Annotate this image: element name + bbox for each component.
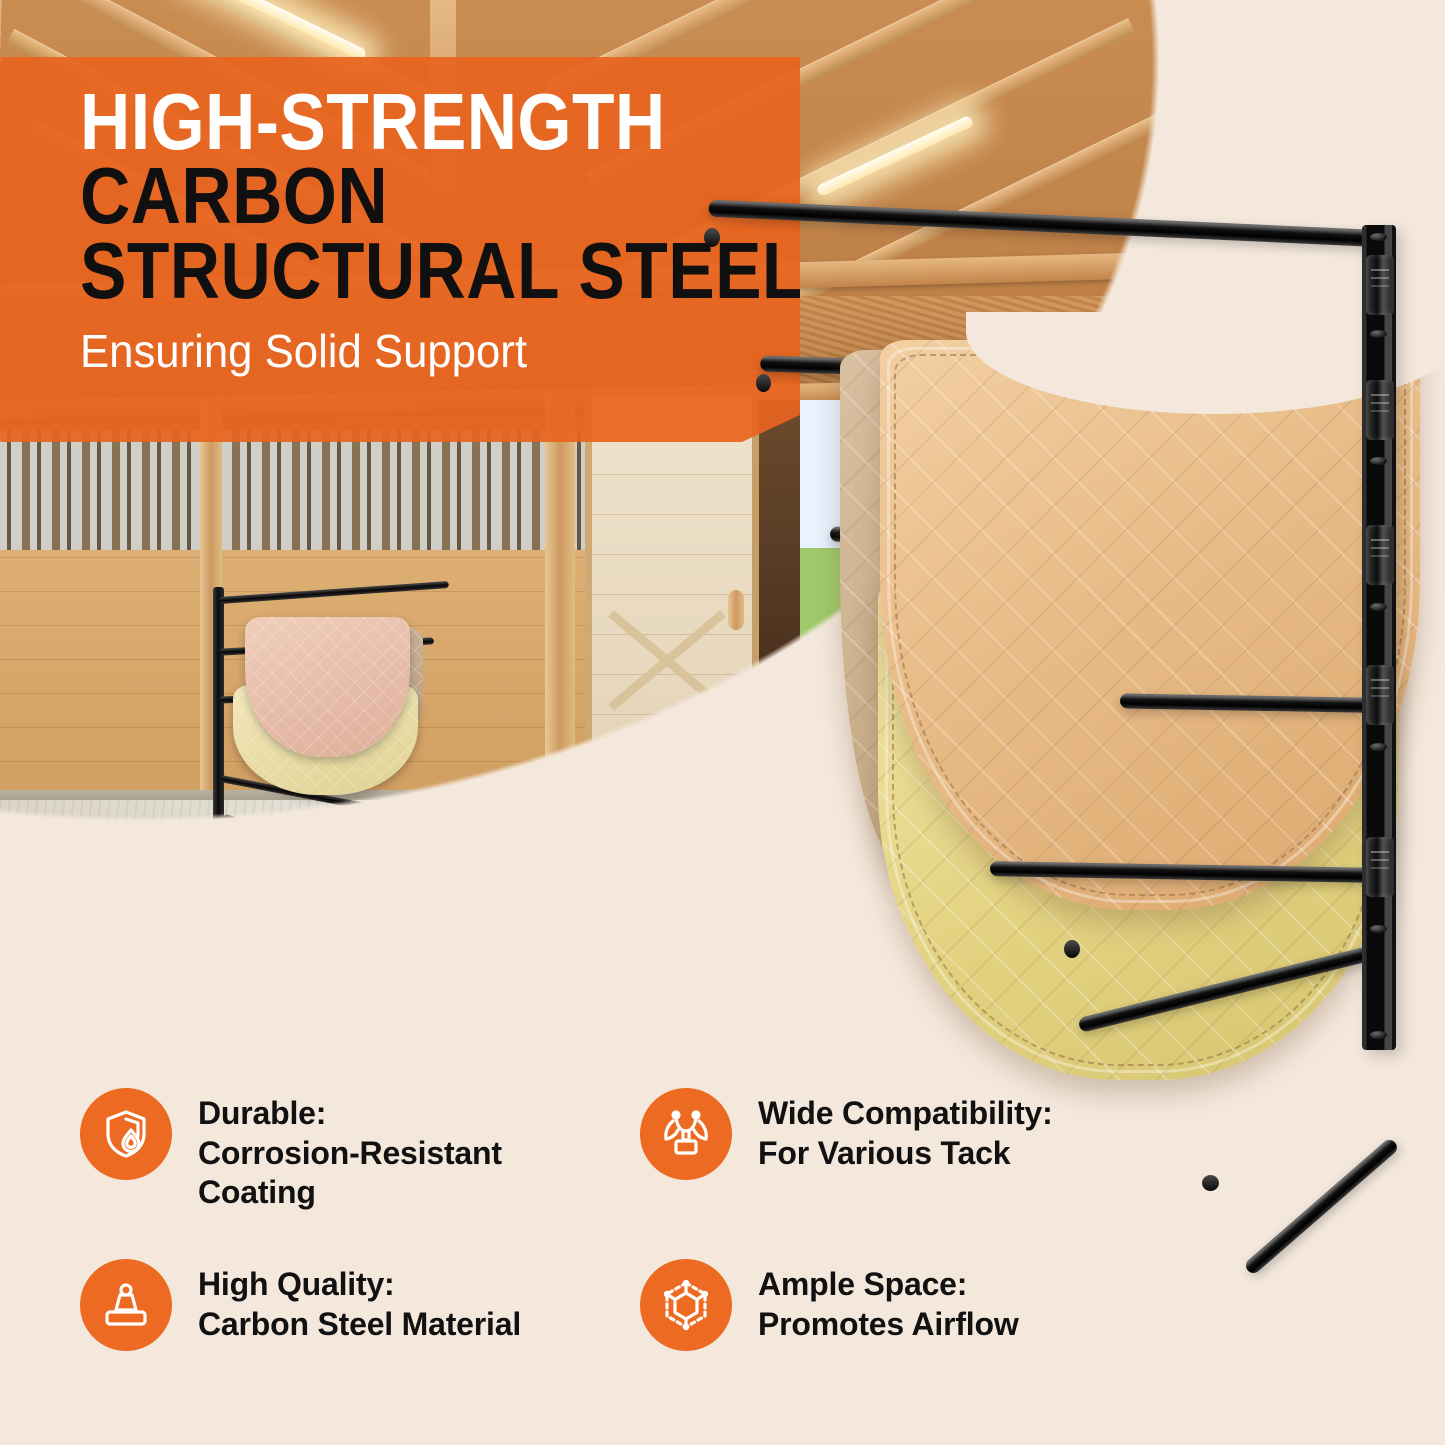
inset-rack-arm <box>223 814 431 884</box>
feature-line-2: Corrosion-Resistant <box>198 1134 502 1174</box>
feature-line-1: Ample Space: <box>758 1265 1019 1305</box>
feature-line-2: Carbon Steel Material <box>198 1305 521 1345</box>
rack-arm-top <box>708 200 1378 247</box>
arm-clamp <box>1366 525 1394 585</box>
feature-list: Durable: Corrosion-Resistant Coating <box>80 1088 1200 1397</box>
arm-clamp <box>1366 380 1394 440</box>
feature-line-1: Wide Compatibility: <box>758 1094 1053 1134</box>
feature-row-2: High Quality: Carbon Steel Material <box>80 1259 1200 1397</box>
feature-ample-space[interactable]: Ample Space: Promotes Airflow <box>640 1259 1200 1351</box>
feature-wide-compatibility-text: Wide Compatibility: For Various Tack <box>758 1088 1053 1173</box>
dashed-cube-icon <box>640 1259 732 1351</box>
tan-pad-surface <box>880 340 1420 910</box>
feature-durable-text: Durable: Corrosion-Resistant Coating <box>198 1088 502 1213</box>
mount-screw <box>1370 1031 1387 1039</box>
feature-ample-space-text: Ample Space: Promotes Airflow <box>758 1259 1019 1344</box>
mount-screw <box>1370 457 1387 465</box>
weight-on-platform-icon <box>80 1259 172 1351</box>
stall-bars-left <box>0 430 600 550</box>
feature-high-quality[interactable]: High Quality: Carbon Steel Material <box>80 1259 640 1351</box>
mount-screw <box>1370 925 1387 933</box>
inset-rack-rail <box>213 587 224 865</box>
feature-row-1: Durable: Corrosion-Resistant Coating <box>80 1088 1200 1259</box>
headline-line-3: STRUCTURAL STEEL <box>80 234 689 308</box>
feature-high-quality-text: High Quality: Carbon Steel Material <box>198 1259 521 1344</box>
arm-clamp <box>1366 837 1394 897</box>
rack-arm-cap <box>1202 1175 1219 1191</box>
saddle-tack-icon <box>640 1088 732 1180</box>
feature-line-1: High Quality: <box>198 1265 521 1305</box>
arm-clamp <box>1366 255 1394 315</box>
headline-subhead: Ensuring Solid Support <box>80 324 745 378</box>
rack-arm-cap <box>1064 940 1080 958</box>
headline-line-2: CARBON <box>80 159 689 233</box>
feature-wide-compatibility[interactable]: Wide Compatibility: For Various Tack <box>640 1088 1200 1213</box>
feature-line-1: Durable: <box>198 1094 502 1134</box>
rack-arm-cap <box>704 228 720 247</box>
inset-wall-rack <box>205 565 475 895</box>
headline-line-1: HIGH-STRENGTH <box>80 85 689 159</box>
rack-arm-cap <box>756 374 771 392</box>
feature-line-3: Coating <box>198 1173 502 1213</box>
shield-droplet-icon <box>80 1088 172 1180</box>
wall-post <box>545 392 575 842</box>
arm-clamp <box>1366 665 1394 725</box>
inset-rack-arm <box>219 581 449 604</box>
mount-screw <box>1370 233 1387 241</box>
feature-line-2: For Various Tack <box>758 1134 1053 1174</box>
feature-line-2: Promotes Airflow <box>758 1305 1019 1345</box>
rack-lower-arm-2 <box>1243 1137 1400 1276</box>
tan-saddle-pad <box>880 340 1420 910</box>
mount-screw <box>1370 603 1387 611</box>
promotional-banner-page: HIGH-STRENGTH CARBON STRUCTURAL STEEL En… <box>0 0 1445 1445</box>
headline-text-block: HIGH-STRENGTH CARBON STRUCTURAL STEEL En… <box>80 85 780 378</box>
headline-banner: HIGH-STRENGTH CARBON STRUCTURAL STEEL En… <box>0 57 800 442</box>
feature-durable[interactable]: Durable: Corrosion-Resistant Coating <box>80 1088 640 1213</box>
mount-screw <box>1370 330 1387 338</box>
rack-wall-rail <box>1362 225 1396 1050</box>
mount-screw <box>1370 743 1387 751</box>
